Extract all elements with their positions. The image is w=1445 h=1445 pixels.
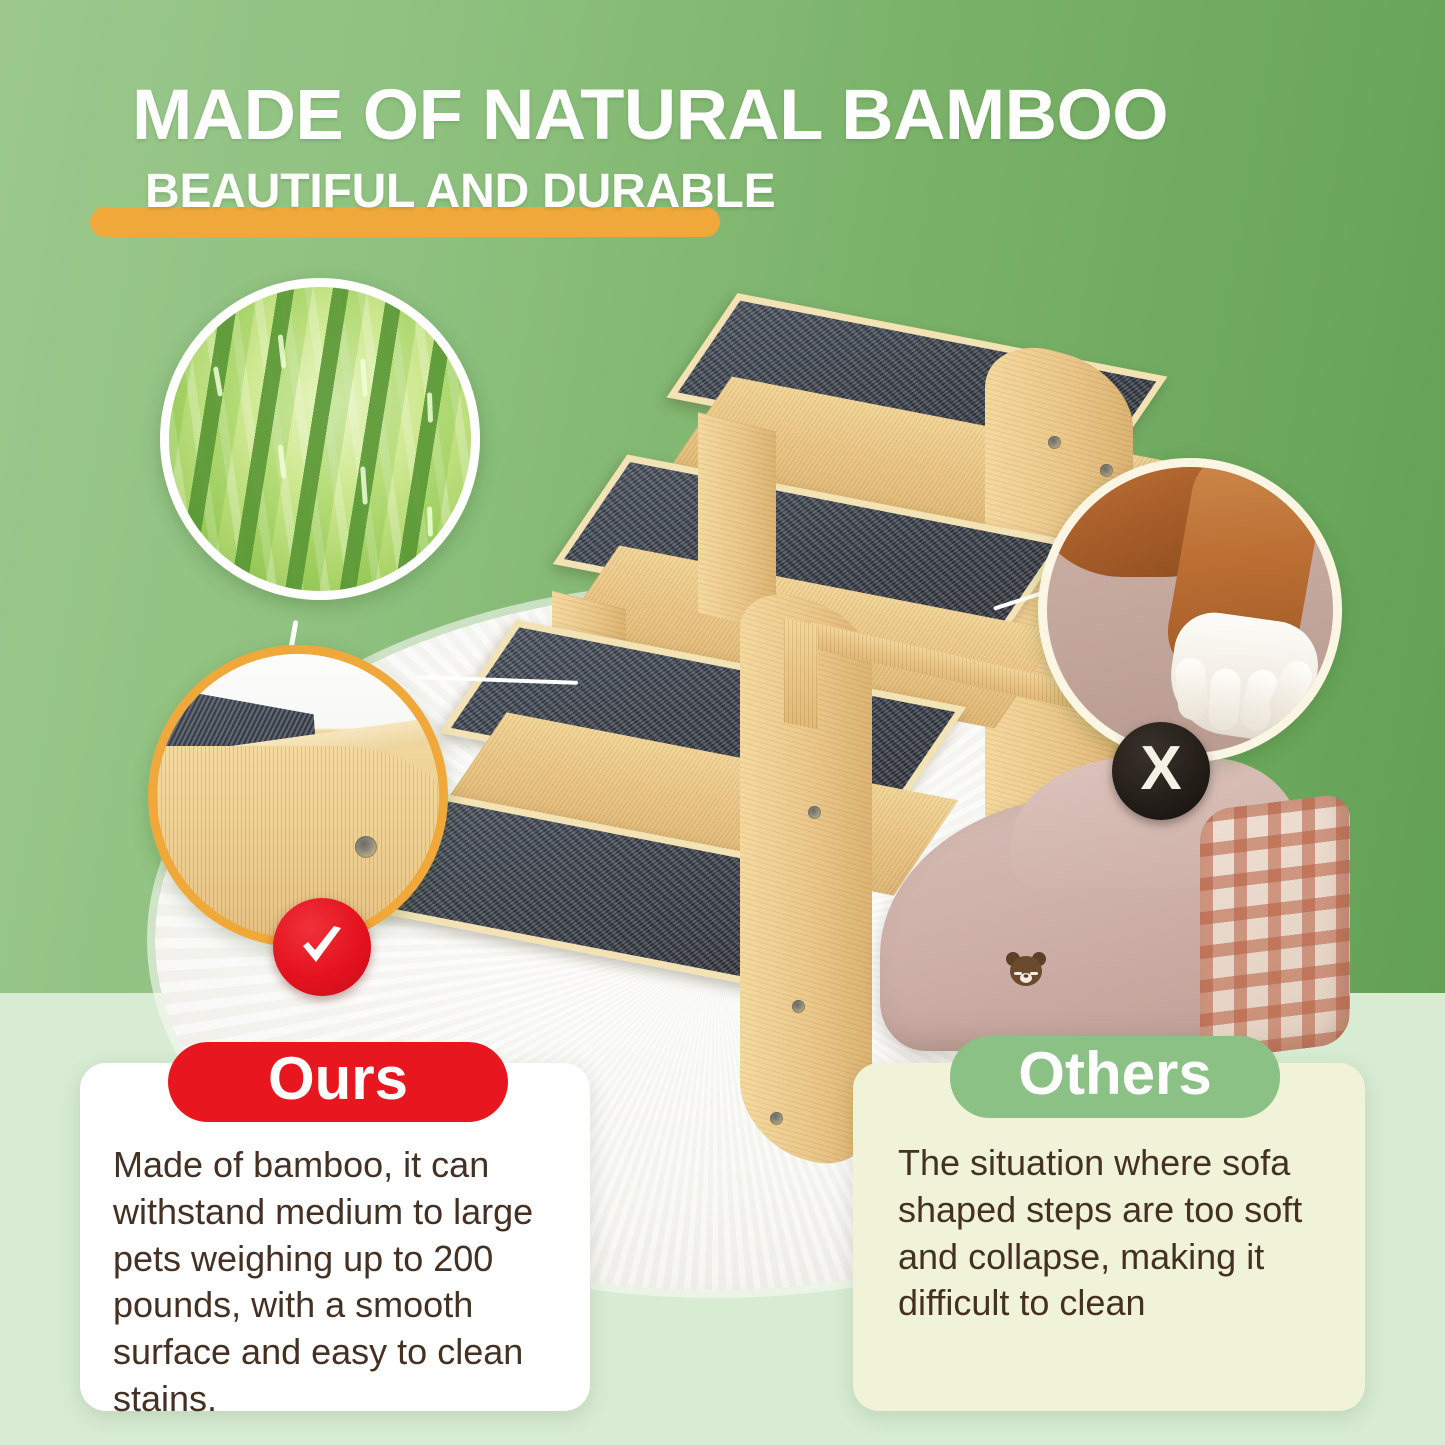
sofa-plaid-side-panel (1200, 793, 1350, 1061)
center-brace (784, 618, 818, 729)
page-title: MADE OF NATURAL BAMBOO (132, 80, 1168, 151)
ours-badge: Ours (168, 1042, 508, 1122)
bamboo-forest-inset (160, 278, 480, 600)
header: MADE OF NATURAL BAMBOO BEAUTIFUL AND DUR… (0, 0, 1445, 260)
screw-detail-icon (355, 836, 377, 858)
screw-f4 (770, 1112, 783, 1125)
paw-toe-1 (1175, 657, 1209, 721)
others-description: The situation where sofa shaped steps ar… (898, 1140, 1358, 1327)
pink-foam-sofa-steps (880, 758, 1350, 1058)
check-icon (273, 898, 371, 996)
screw-r1 (1048, 436, 1061, 449)
dog-paw-inset (1038, 458, 1342, 762)
subtitle-wrap: BEAUTIFUL AND DURABLE (145, 168, 775, 216)
others-badge: Others (950, 1036, 1280, 1118)
bear-patch-icon (1005, 950, 1047, 990)
cross-icon: X (1112, 722, 1210, 820)
infographic-canvas: MADE OF NATURAL BAMBOO BEAUTIFUL AND DUR… (0, 0, 1445, 1445)
bamboo-edge-inset (148, 645, 448, 947)
paw-toe-2 (1208, 668, 1242, 732)
screw-f2 (808, 806, 821, 819)
page-subtitle: BEAUTIFUL AND DURABLE (145, 168, 775, 216)
ours-description: Made of bamboo, it can withstand medium … (113, 1142, 583, 1423)
screw-f3 (792, 1000, 805, 1013)
